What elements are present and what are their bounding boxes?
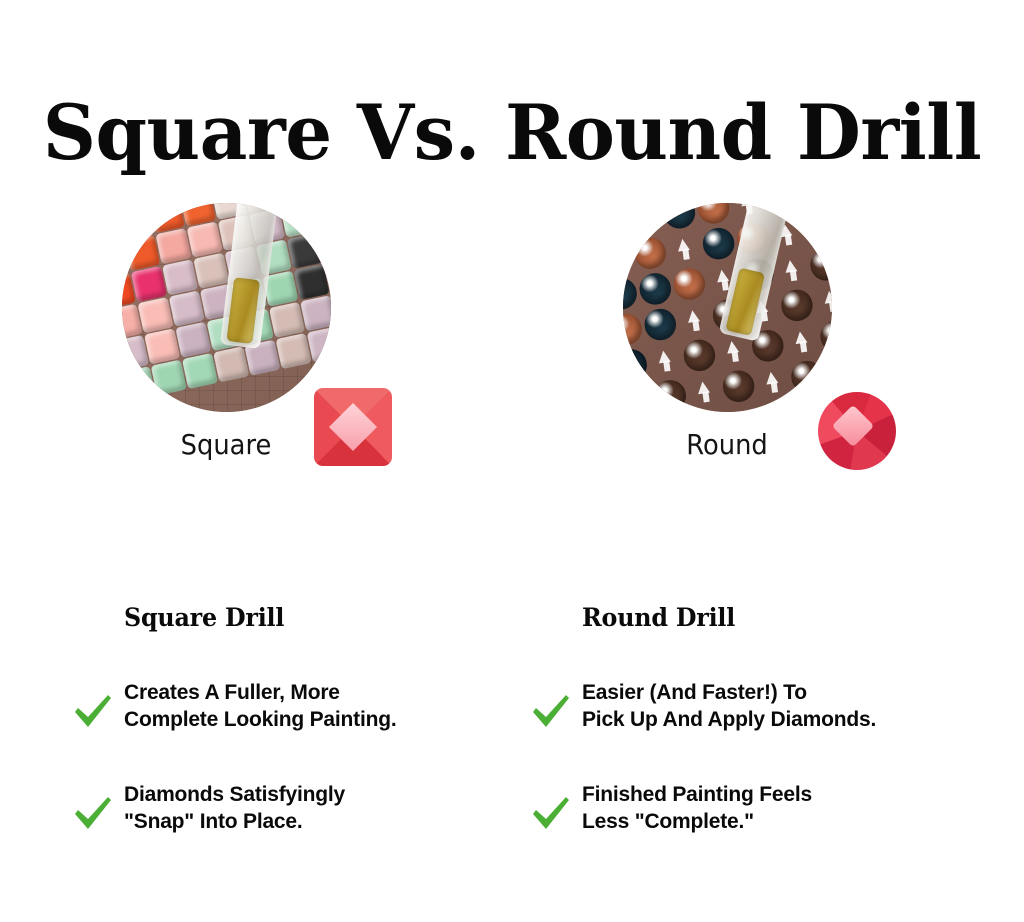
column-square-drill: Square Drill Creates A Fuller, More Comp…	[70, 604, 510, 632]
square-drill-photo	[122, 203, 331, 412]
photo-caption-square: Square	[88, 428, 364, 461]
infographic-page: { "title": "Square Vs. Round Drill", "ph…	[0, 0, 1024, 922]
photo-block-square: Square	[76, 203, 376, 478]
photo-caption-round: Round	[589, 428, 865, 461]
column-heading-square: Square Drill	[124, 604, 491, 632]
check-icon	[530, 690, 572, 732]
round-drill-photo	[623, 203, 832, 412]
photo-comparison-row: Square	[0, 203, 1024, 478]
check-icon	[72, 792, 114, 834]
benefit-list-square: Creates A Fuller, More Complete Looking …	[70, 680, 510, 884]
benefit-item: Creates A Fuller, More Complete Looking …	[70, 680, 510, 742]
check-icon	[530, 792, 572, 834]
column-round-drill: Round Drill Easier (And Faster!) To Pick…	[528, 604, 968, 632]
benefit-item: Finished Painting Feels Less "Complete."	[528, 782, 968, 844]
check-icon	[72, 690, 114, 732]
photo-block-round: Round	[577, 203, 877, 478]
benefit-text: Creates A Fuller, More Complete Looking …	[124, 681, 396, 731]
benefit-item: Diamonds Satisfyingly "Snap" Into Place.	[70, 782, 510, 844]
benefit-text: Diamonds Satisfyingly "Snap" Into Place.	[124, 783, 345, 833]
benefit-item: Easier (And Faster!) To Pick Up And Appl…	[528, 680, 968, 742]
benefit-text: Finished Painting Feels Less "Complete."	[582, 783, 812, 833]
column-heading-round: Round Drill	[582, 604, 949, 632]
page-title: Square Vs. Round Drill	[15, 95, 1008, 171]
benefit-list-round: Easier (And Faster!) To Pick Up And Appl…	[528, 680, 968, 884]
comparison-section: Square Drill Creates A Fuller, More Comp…	[0, 604, 1024, 884]
benefit-text: Easier (And Faster!) To Pick Up And Appl…	[582, 681, 876, 731]
